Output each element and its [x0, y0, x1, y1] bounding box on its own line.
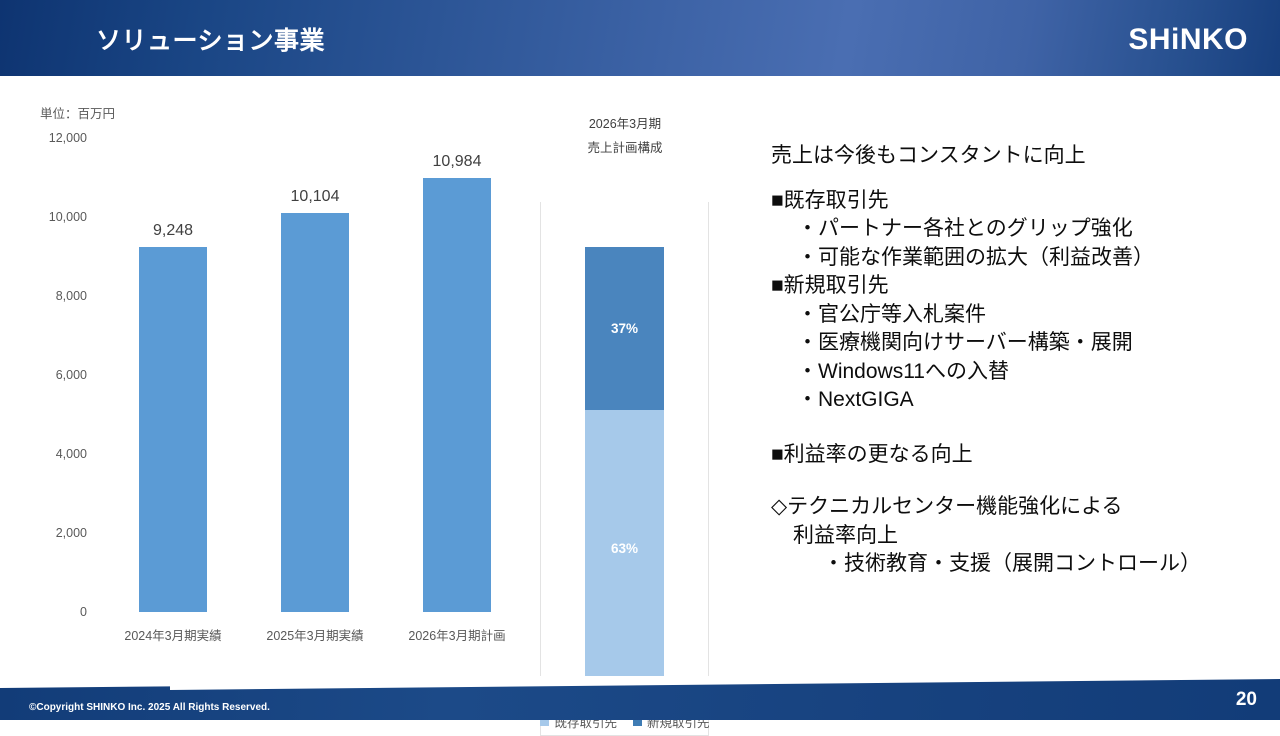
text-tech-line-1: ◇テクニカルセンター機能強化による	[771, 493, 1271, 522]
text-item-new-2: ・医療機関向けサーバー構築・展開	[771, 329, 1271, 358]
x-label-2026: 2026年3月期計画	[408, 625, 505, 644]
y-tick-12000: 12,000	[49, 131, 87, 145]
text-heading-existing: ■既存取引先	[771, 187, 1271, 216]
footer: ©Copyright SHINKO Inc. 2025 All Rights R…	[0, 676, 1280, 720]
copyright-text: ©Copyright SHINKO Inc. 2025 All Rights R…	[29, 702, 270, 713]
y-tick-2000: 2,000	[56, 526, 87, 540]
stacked-segment-new-label: 37%	[611, 321, 638, 336]
stacked-chart-title-line1: 2026年3月期	[540, 112, 710, 136]
x-label-2024: 2024年3月期実績	[124, 625, 221, 644]
y-tick-8000: 8,000	[56, 289, 87, 303]
text-item-existing-1: ・パートナー各社とのグリップ強化	[771, 215, 1271, 244]
text-item-existing-2: ・可能な作業範囲の拡大（利益改善）	[771, 244, 1271, 273]
unit-label: 単位：百万円	[40, 103, 115, 122]
stacked-segment-existing-label: 63%	[611, 541, 638, 556]
page-title: ソリューション事業	[96, 21, 325, 57]
stacked-bar[interactable]: 37% 63%	[585, 247, 664, 687]
bar-value-2026: 10,984	[433, 153, 482, 171]
text-lead: 売上は今後もコンスタントに向上	[771, 142, 1271, 171]
text-heading-profit: ■利益率の更なる向上	[771, 441, 1271, 470]
bar-2024[interactable]: 9,248 2024年3月期実績	[139, 247, 207, 612]
stacked-chart-title-line2: 売上計画構成	[540, 136, 710, 160]
y-tick-0: 0	[80, 605, 87, 619]
text-item-new-3: ・Windows11への入替	[771, 358, 1271, 387]
spacer-1	[771, 415, 1271, 441]
bar-value-2025: 10,104	[291, 188, 340, 206]
text-tech-line-3: ・技術教育・支援（展開コントロール）	[771, 550, 1271, 579]
stacked-composition-chart: 2026年3月期 売上計画構成 37% 63% 既存取引先 新規取引先	[540, 112, 710, 692]
text-tech-line-2: 利益率向上	[771, 522, 1271, 551]
y-tick-10000: 10,000	[49, 210, 87, 224]
bar-value-2024: 9,248	[153, 222, 193, 240]
spacer-2	[771, 469, 1271, 493]
y-tick-6000: 6,000	[56, 368, 87, 382]
text-item-new-4: ・NextGIGA	[771, 386, 1271, 415]
bar-2026[interactable]: 10,984 2026年3月期計画	[423, 178, 491, 612]
text-heading-new: ■新規取引先	[771, 272, 1271, 301]
shinko-logo: SHiNKO	[1128, 23, 1248, 57]
stacked-chart-title: 2026年3月期 売上計画構成	[540, 112, 710, 160]
page-number: 20	[1236, 689, 1257, 711]
stacked-segment-new[interactable]: 37%	[585, 247, 664, 410]
bar-chart-plot-area: 12,000 10,000 8,000 6,000 4,000 2,000 0 …	[96, 138, 521, 612]
chart-panel: 単位：百万円 12,000 10,000 8,000 6,000 4,000 2…	[0, 76, 740, 676]
x-label-2025: 2025年3月期実績	[266, 625, 363, 644]
text-item-new-1: ・官公庁等入札案件	[771, 301, 1271, 330]
text-panel: 売上は今後もコンスタントに向上 ■既存取引先 ・パートナー各社とのグリップ強化 …	[771, 142, 1271, 579]
header-band: ソリューション事業 SHiNKO	[0, 0, 1280, 76]
y-tick-4000: 4,000	[56, 447, 87, 461]
bar-2025[interactable]: 10,104 2025年3月期実績	[281, 213, 349, 612]
stacked-segment-existing[interactable]: 63%	[585, 410, 664, 687]
